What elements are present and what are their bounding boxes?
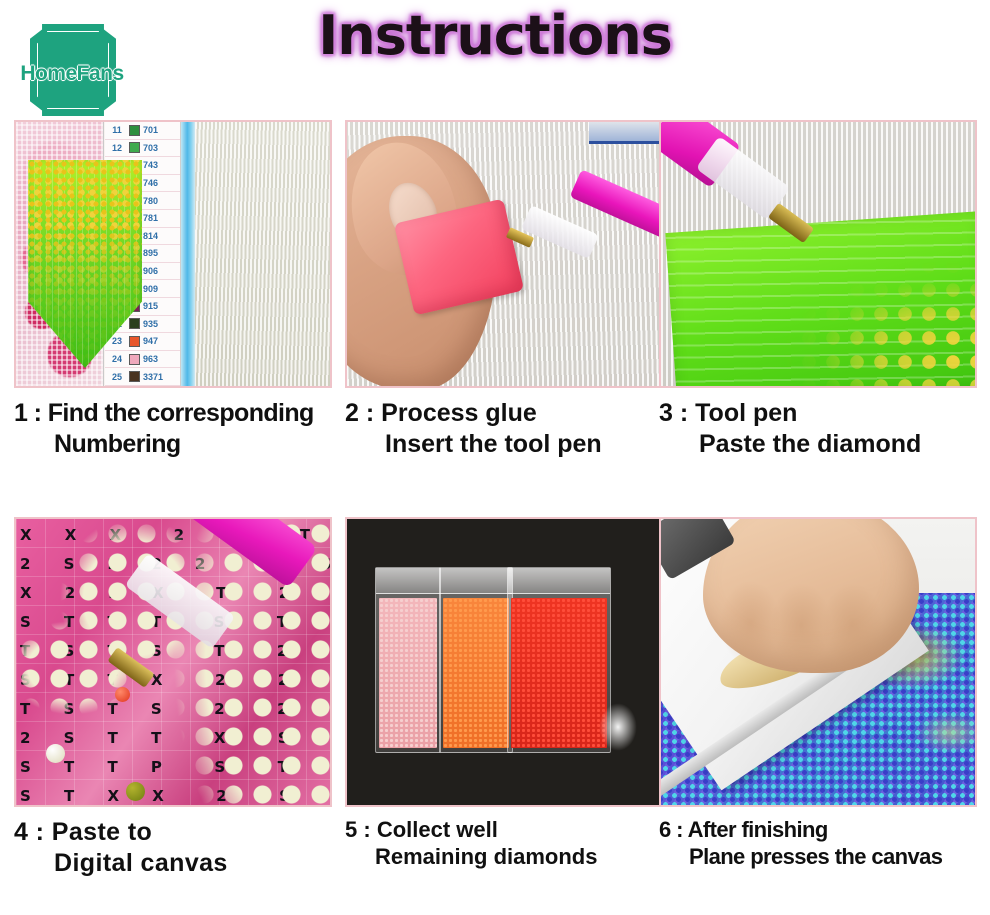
plastic-glare <box>599 703 637 751</box>
knuckles <box>719 573 915 673</box>
step-number-4: 4 <box>14 818 28 846</box>
color-code-label: 743 <box>143 160 158 170</box>
color-swatch <box>129 125 140 136</box>
color-code-row: 23947 <box>105 333 180 351</box>
pasting-on-canvas-photo: X X X 2 S T U T T 2 S 2 2 2 T S T T T X … <box>14 517 332 807</box>
step-caption-6: 6 : After finishing Plane presses the ca… <box>659 817 977 871</box>
orange-diamond-bag <box>439 567 513 753</box>
color-code-label: 746 <box>143 178 158 188</box>
step-number-2: 2 <box>345 399 359 427</box>
step-caption-5: 5 : Collect well Remaining diamonds <box>345 817 663 871</box>
bag-seal <box>508 568 610 594</box>
color-code-row: 12703 <box>105 140 180 158</box>
page-title: Instructions <box>0 4 990 67</box>
step-line2-1: Numbering <box>54 429 332 460</box>
orange-diamonds <box>443 598 509 748</box>
bag-seal <box>440 568 512 594</box>
glue-and-pen-photo <box>345 120 663 388</box>
color-code-label: 701 <box>143 125 158 135</box>
step-caption-3: 3 : Tool pen Paste the diamond <box>659 398 977 459</box>
color-row-index: 25 <box>108 372 126 382</box>
color-code-label: 963 <box>143 354 158 364</box>
step-card-2: 2 : Process glue Insert the tool pen <box>345 120 663 517</box>
color-code-label: 703 <box>143 143 158 153</box>
step-line2-5: Remaining diamonds <box>375 844 663 871</box>
color-code-label: 780 <box>143 196 158 206</box>
color-code-row: 253371 <box>105 368 180 386</box>
step-card-6: 6 : After finishing Plane presses the ca… <box>659 517 977 914</box>
color-code-label: 781 <box>143 213 158 223</box>
color-code-label: 947 <box>143 336 158 346</box>
step-caption-2: 2 : Process glue Insert the tool pen <box>345 398 663 459</box>
color-swatch <box>129 142 140 153</box>
diamond-bags-photo <box>345 517 663 807</box>
bag-seal <box>376 568 440 594</box>
step-line2-2: Insert the tool pen <box>385 429 663 460</box>
step-separator-4: : <box>36 818 45 846</box>
step-separator-6: : <box>676 817 683 842</box>
color-row-index: 11 <box>108 125 126 135</box>
step-card-3: 3 : Tool pen Paste the diamond <box>659 120 977 517</box>
box-corner <box>589 122 661 144</box>
color-swatch <box>129 354 140 365</box>
color-code-row: 11701 <box>105 122 180 140</box>
instruction-row-top: 1170112703137431474615780167811781418895… <box>0 120 990 517</box>
desk-surface <box>195 122 330 386</box>
pink-diamonds <box>379 598 437 748</box>
instruction-grid: 1170112703137431474615780167811781418895… <box>0 120 990 915</box>
loose-olive-diamond <box>126 782 145 801</box>
step-separator-1: : <box>34 399 42 427</box>
page-header: HomeFans Instructions <box>0 0 990 120</box>
color-code-row: 24963 <box>105 351 180 369</box>
yellow-diamonds-in-tray <box>701 254 975 386</box>
diamond-on-pen-tip <box>115 687 130 702</box>
red-diamond-bag <box>507 567 611 753</box>
step-caption-4: 4 : Paste to Digital canvas <box>14 817 332 878</box>
color-code-label: 814 <box>143 231 158 241</box>
color-chart-and-tray-photo: 1170112703137431474615780167811781418895… <box>14 120 332 388</box>
color-swatch <box>129 318 140 329</box>
pen-picking-diamond-photo <box>659 120 977 388</box>
step-separator-2: : <box>366 399 374 427</box>
step-line2-3: Paste the diamond <box>699 429 977 460</box>
step-caption-1: 1 : Find the corresponding Numbering <box>14 398 332 459</box>
blue-ruler-strip <box>181 122 195 386</box>
red-diamonds <box>511 598 607 748</box>
step-separator-3: : <box>680 399 688 427</box>
color-row-index: 24 <box>108 354 126 364</box>
color-code-label: 935 <box>143 319 158 329</box>
step-line1-5: Collect well <box>377 817 498 842</box>
loose-white-diamond <box>46 744 65 763</box>
color-swatch <box>129 371 140 382</box>
step-line1-1: Find the corresponding <box>48 399 314 427</box>
step-card-1: 1170112703137431474615780167811781418895… <box>14 120 332 517</box>
step-line1-6: After finishing <box>688 817 828 842</box>
step-line2-6: Plane presses the canvas <box>689 844 977 871</box>
step-line1-4: Paste to <box>52 818 152 846</box>
color-row-index: 12 <box>108 143 126 153</box>
step-number-5: 5 <box>345 817 357 842</box>
step-card-5: 5 : Collect well Remaining diamonds <box>345 517 663 914</box>
color-code-label: 895 <box>143 248 158 258</box>
step-line2-4: Digital canvas <box>54 848 332 879</box>
color-code-label: 909 <box>143 284 158 294</box>
color-swatch <box>129 336 140 347</box>
pressing-canvas-photo <box>659 517 977 807</box>
step-number-3: 3 <box>659 399 673 427</box>
color-code-label: 3371 <box>143 372 163 382</box>
color-code-label: 906 <box>143 266 158 276</box>
color-code-label: 915 <box>143 301 158 311</box>
instruction-row-bottom: X X X 2 S T U T T 2 S 2 2 2 T S T T T X … <box>0 517 990 914</box>
step-number-6: 6 <box>659 817 671 842</box>
pink-diamond-bag <box>375 567 441 753</box>
step-card-4: X X X 2 S T U T T 2 S 2 2 2 T S T T T X … <box>14 517 332 914</box>
step-separator-5: : <box>363 817 370 842</box>
step-line1-3: Tool pen <box>695 399 797 427</box>
step-number-1: 1 <box>14 399 27 427</box>
step-line1-2: Process glue <box>381 399 537 427</box>
